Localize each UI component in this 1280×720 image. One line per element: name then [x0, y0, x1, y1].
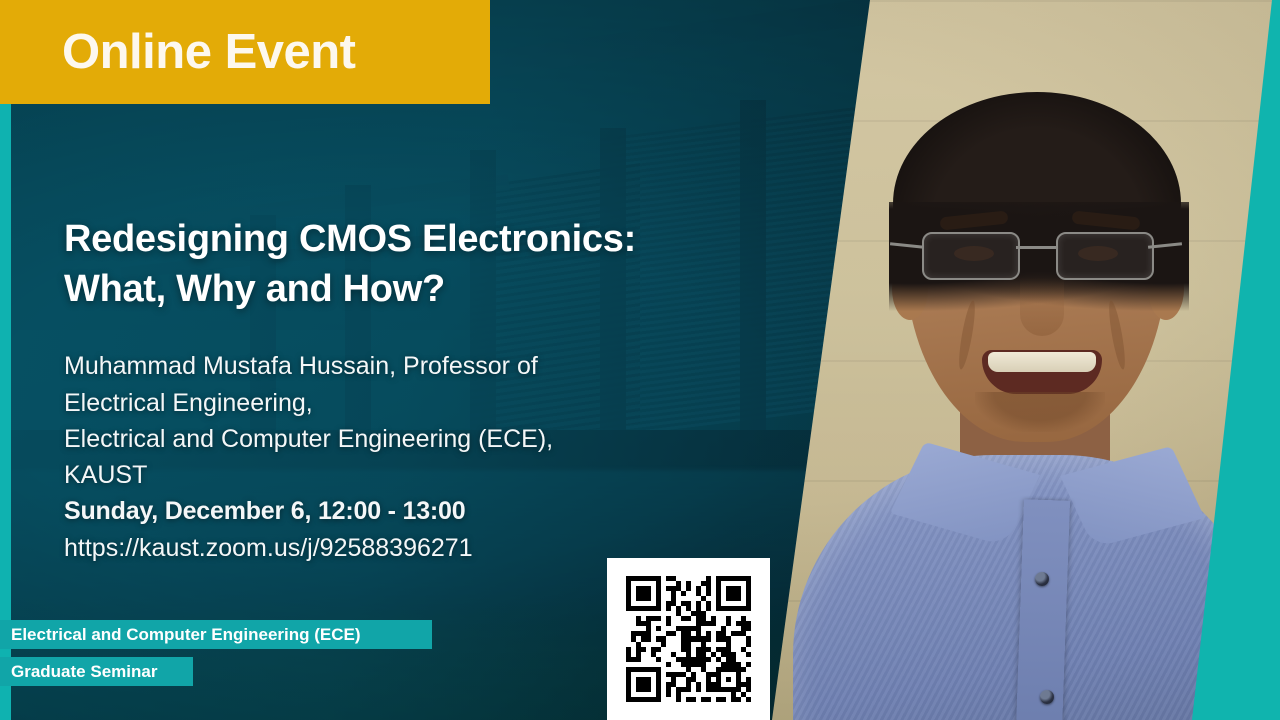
badge-series-label: Graduate Seminar — [11, 662, 157, 682]
badge-department: Electrical and Computer Engineering (ECE… — [0, 620, 432, 649]
event-datetime: Sunday, December 6, 12:00 - 13:00 — [64, 493, 764, 529]
badge-department-label: Electrical and Computer Engineering (ECE… — [11, 625, 361, 645]
event-poster: Online Event Redesigning CMOS Electronic… — [0, 0, 1280, 720]
speaker-line-1: Muhammad Mustafa Hussain, Professor of — [64, 348, 764, 384]
glasses-icon — [922, 232, 1150, 278]
event-details: Redesigning CMOS Electronics: What, Why … — [64, 214, 764, 566]
event-title: Redesigning CMOS Electronics: What, Why … — [64, 214, 764, 314]
glasses-bridge — [1016, 246, 1056, 249]
event-title-line-1: Redesigning CMOS Electronics: — [64, 214, 764, 264]
glasses-lens-left — [922, 232, 1020, 280]
chin-shadow — [975, 392, 1105, 432]
qr-code[interactable] — [626, 576, 752, 702]
qr-code-panel[interactable] — [607, 558, 770, 720]
online-event-banner: Online Event — [0, 0, 490, 104]
badge-series: Graduate Seminar — [0, 657, 193, 686]
shirt-button — [1035, 572, 1049, 586]
speaker-line-4: KAUST — [64, 457, 764, 493]
teeth — [988, 352, 1096, 372]
event-title-line-2: What, Why and How? — [64, 264, 764, 314]
shirt-placket — [1016, 499, 1070, 720]
glasses-lens-right — [1056, 232, 1154, 280]
mouth — [982, 350, 1102, 394]
shirt-button — [1040, 690, 1054, 704]
speaker-line-2: Electrical Engineering, — [64, 385, 764, 421]
speaker-line-3: Electrical and Computer Engineering (ECE… — [64, 421, 764, 457]
online-event-label: Online Event — [62, 28, 356, 77]
nose — [1020, 278, 1064, 336]
